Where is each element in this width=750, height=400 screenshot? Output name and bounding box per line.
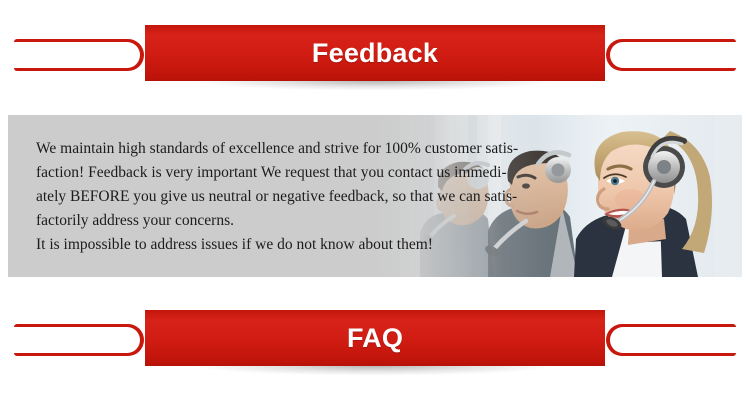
feedback-text-line-2: faction! Feedback is very important We r…: [36, 161, 536, 185]
feedback-text-line-4: factorily address your concerns.: [36, 209, 536, 233]
feedback-text-line-3: ately BEFORE you give us neutral or nega…: [36, 185, 536, 209]
feedback-content-panel: We maintain high standards of excellence…: [8, 115, 742, 277]
feedback-banner: Feedback: [0, 25, 750, 85]
faq-banner-drop-shadow: [150, 366, 600, 378]
feedback-banner-plate: Feedback: [145, 25, 605, 81]
banner-left-decoration: [14, 39, 144, 71]
faq-banner: FAQ: [0, 310, 750, 370]
feedback-message-text: We maintain high standards of excellence…: [36, 137, 536, 257]
banner-right-decoration: [606, 39, 736, 71]
feedback-banner-title: Feedback: [312, 40, 438, 67]
faq-banner-right-decoration-inner: [610, 327, 736, 353]
feedback-faq-page: Feedback: [0, 0, 750, 400]
faq-banner-left-decoration: [14, 324, 144, 356]
faq-banner-right-decoration: [606, 324, 736, 356]
feedback-text-line-1: We maintain high standards of excellence…: [36, 137, 536, 161]
faq-banner-left-decoration-inner: [14, 327, 140, 353]
banner-left-decoration-inner: [14, 42, 140, 68]
banner-drop-shadow: [150, 81, 600, 93]
faq-banner-title: FAQ: [347, 325, 403, 352]
faq-banner-plate: FAQ: [145, 310, 605, 366]
feedback-text-line-5: It is impossible to address issues if we…: [36, 233, 536, 257]
banner-right-decoration-inner: [610, 42, 736, 68]
